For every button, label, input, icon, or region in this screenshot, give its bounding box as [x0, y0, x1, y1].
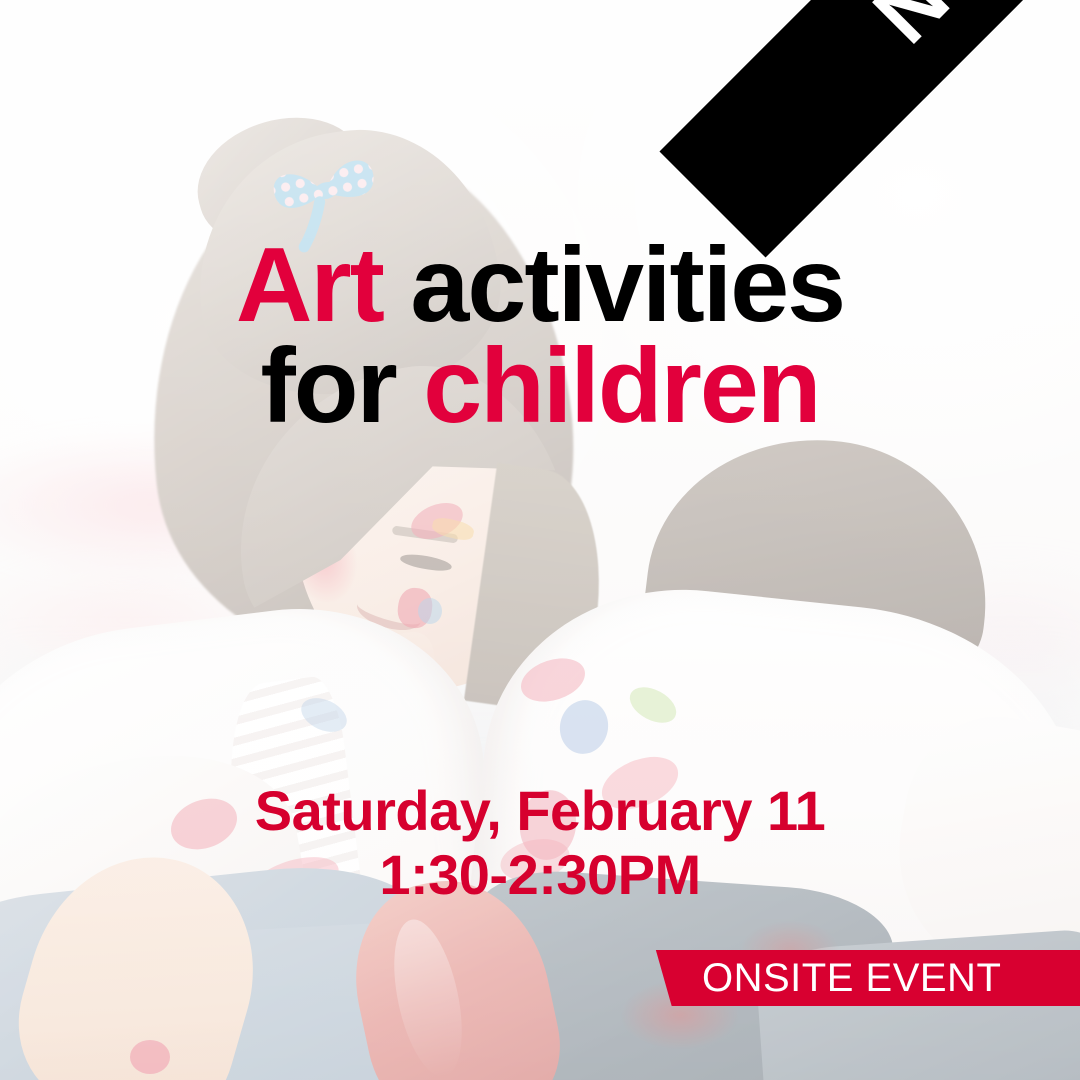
event-date: Saturday, February 11	[0, 782, 1080, 840]
onsite-event-banner: ONSITE EVENT	[640, 950, 1080, 1006]
event-details: Saturday, February 11 1:30-2:30PM	[0, 782, 1080, 904]
onsite-event-label: ONSITE EVENT	[640, 956, 1001, 1001]
photo-gradient-overlay	[0, 0, 1080, 1080]
background-photo	[0, 0, 1080, 1080]
event-promo-poster: NEW Art activities for children Saturday…	[0, 0, 1080, 1080]
headline-line-1: Art activities	[0, 236, 1080, 335]
headline-word-for: for	[260, 327, 423, 445]
page-title: Art activities for children	[0, 236, 1080, 435]
headline-word-children: children	[423, 327, 819, 445]
event-time: 1:30-2:30PM	[0, 846, 1080, 904]
headline-line-2: for children	[0, 337, 1080, 436]
